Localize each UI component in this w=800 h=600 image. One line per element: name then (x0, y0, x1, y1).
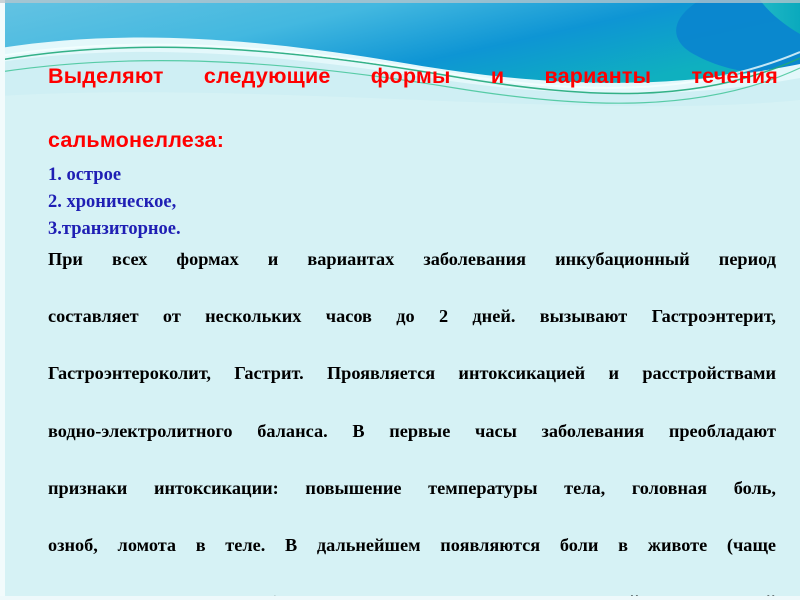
slide-canvas: Выделяют следующие формы и варианты тече… (0, 0, 800, 600)
body-paragraph: При всех формах и вариантах заболевания … (48, 245, 776, 600)
body-line: признаки интоксикации: повышение темпера… (48, 474, 776, 531)
slide-border-left (0, 0, 5, 600)
body-line: При всех формах и вариантах заболевания … (48, 245, 776, 302)
slide-content: Выделяют следующие формы и варианты тече… (48, 60, 778, 600)
slide-border-top (0, 0, 800, 3)
body-line: составляет от нескольких часов до 2 дней… (48, 302, 776, 359)
list-item: 3.транзиторное. (48, 216, 778, 243)
body-line: озноб, ломота в теле. В дальнейшем появл… (48, 531, 776, 588)
heading-line-1: Выделяют следующие формы и варианты тече… (48, 60, 778, 124)
list-item: 2. хроническое, (48, 189, 778, 216)
wave-teal-sliver (760, 0, 800, 34)
body-line: Гастроэнтероколит, Гастрит. Проявляется … (48, 359, 776, 416)
slide-heading: Выделяют следующие формы и варианты тече… (48, 60, 778, 156)
heading-line-2: сальмонеллеза: (48, 124, 778, 156)
forms-list: 1. острое 2. хроническое, 3.транзиторное… (48, 162, 778, 243)
body-line: водно-электролитного баланса. В первые ч… (48, 417, 776, 474)
list-item: 1. острое (48, 162, 778, 189)
slide-border-bottom (0, 596, 800, 600)
